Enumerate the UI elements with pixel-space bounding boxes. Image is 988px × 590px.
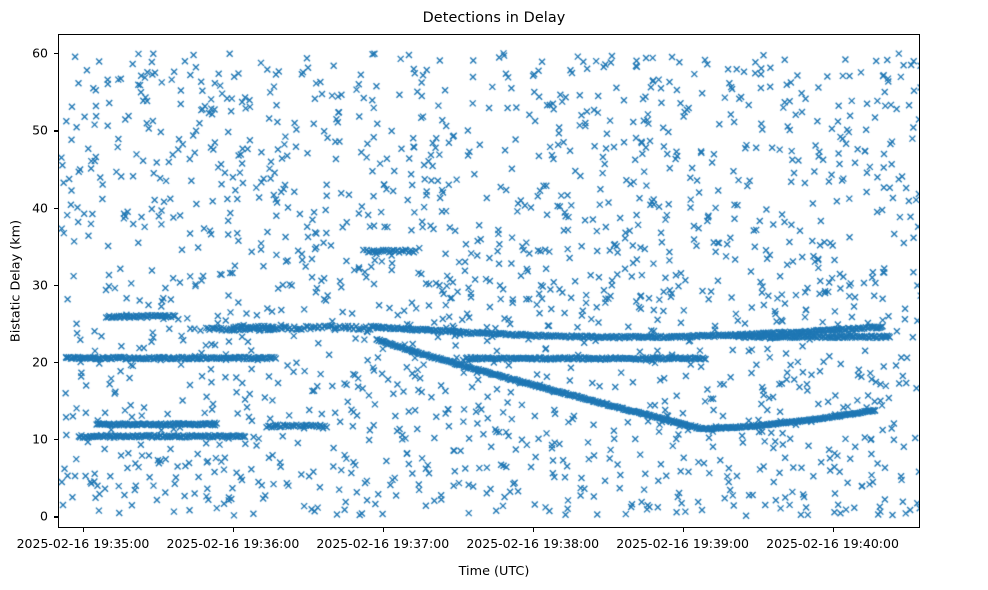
x-axis-label: Time (UTC) <box>0 564 988 579</box>
x-tick-label: 2025-02-16 19:37:00 <box>316 536 449 551</box>
y-tick-mark <box>54 285 58 286</box>
x-tick-mark <box>233 528 234 532</box>
y-tick-label: 10 <box>0 432 48 447</box>
y-tick-mark <box>54 362 58 363</box>
x-tick-label: 2025-02-16 19:38:00 <box>466 536 599 551</box>
x-tick-mark <box>83 528 84 532</box>
x-tick-mark <box>533 528 534 532</box>
y-tick-mark <box>54 130 58 131</box>
plot-area <box>58 34 920 528</box>
chart-title: Detections in Delay <box>0 10 988 26</box>
y-tick-mark <box>54 516 58 517</box>
x-tick-label: 2025-02-16 19:40:00 <box>766 536 899 551</box>
x-tick-label: 2025-02-16 19:35:00 <box>17 536 150 551</box>
x-tick-mark <box>683 528 684 532</box>
y-tick-label: 60 <box>0 46 48 61</box>
y-tick-label: 0 <box>0 509 48 524</box>
x-tick-label: 2025-02-16 19:39:00 <box>616 536 749 551</box>
y-tick-label: 50 <box>0 123 48 138</box>
y-tick-label: 30 <box>0 277 48 292</box>
y-tick-mark <box>54 439 58 440</box>
scatter-points-canvas <box>59 35 920 528</box>
y-tick-label: 40 <box>0 200 48 215</box>
chart-figure: Detections in Delay 0102030405060 2025-0… <box>0 0 988 590</box>
y-tick-mark <box>54 208 58 209</box>
x-tick-mark <box>383 528 384 532</box>
x-tick-label: 2025-02-16 19:36:00 <box>167 536 300 551</box>
y-axis-label: Bistatic Delay (km) <box>9 220 24 342</box>
y-tick-mark <box>54 53 58 54</box>
y-tick-label: 20 <box>0 355 48 370</box>
x-tick-mark <box>833 528 834 532</box>
